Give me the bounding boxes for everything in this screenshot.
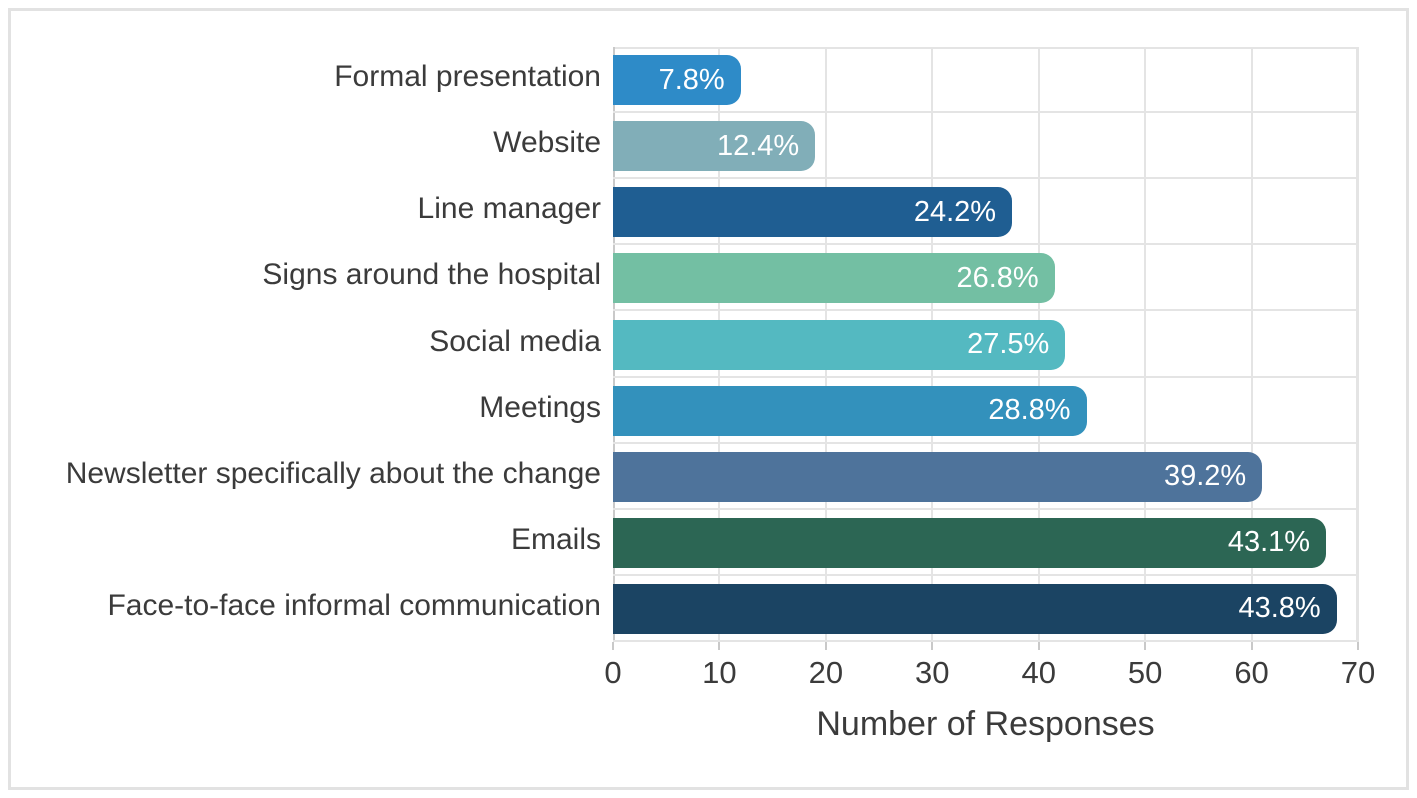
bar-value-label: 26.8% — [956, 262, 1054, 295]
bar[interactable]: 27.5% — [613, 320, 1065, 370]
bar-value-label: 43.1% — [1228, 526, 1326, 559]
row-separator — [613, 574, 1358, 576]
x-tick-label: 30 — [915, 655, 949, 691]
bar-value-label: 27.5% — [967, 328, 1065, 361]
x-tick-mark — [1357, 642, 1359, 650]
bar-value-label: 12.4% — [717, 130, 815, 163]
bar-value-label: 39.2% — [1164, 460, 1262, 493]
bar[interactable]: 43.8% — [613, 584, 1337, 634]
bar-value-label: 28.8% — [988, 394, 1086, 427]
x-axis-title: Number of Responses — [613, 705, 1358, 744]
bar-chart: Formal presentationWebsiteLine managerSi… — [11, 11, 1412, 793]
plot-area: 7.8%12.4%24.2%26.8%27.5%28.8%39.2%43.1%4… — [613, 47, 1358, 642]
figure-container: Formal presentationWebsiteLine managerSi… — [0, 0, 1417, 798]
category-label: Website — [493, 126, 601, 160]
bar-value-label: 24.2% — [914, 196, 1012, 229]
x-tick-mark — [825, 642, 827, 650]
x-tick-label: 10 — [702, 655, 736, 691]
row-separator — [613, 111, 1358, 113]
plot-border-right — [1356, 47, 1358, 642]
bar[interactable]: 26.8% — [613, 253, 1055, 303]
x-tick-mark — [718, 642, 720, 650]
x-tick-mark — [1251, 642, 1253, 650]
category-label: Line manager — [418, 192, 601, 226]
x-tick-mark — [931, 642, 933, 650]
bar[interactable]: 24.2% — [613, 187, 1012, 237]
x-tick-mark — [1144, 642, 1146, 650]
row-separator — [613, 376, 1358, 378]
category-label: Social media — [429, 325, 601, 359]
category-label: Newsletter specifically about the change — [66, 457, 601, 491]
category-label: Emails — [511, 523, 601, 557]
figure-frame: Formal presentationWebsiteLine managerSi… — [8, 8, 1409, 790]
row-separator — [613, 442, 1358, 444]
bar-value-label: 7.8% — [659, 64, 741, 97]
bar[interactable]: 7.8% — [613, 55, 741, 105]
x-tick-label: 20 — [809, 655, 843, 691]
category-label: Meetings — [479, 391, 601, 425]
bar[interactable]: 28.8% — [613, 386, 1087, 436]
plot-border-top — [613, 47, 1358, 49]
row-separator — [613, 309, 1358, 311]
bar[interactable]: 43.1% — [613, 518, 1326, 568]
x-tick-mark — [1038, 642, 1040, 650]
row-separator — [613, 508, 1358, 510]
x-tick-label: 50 — [1128, 655, 1162, 691]
x-tick-label: 0 — [604, 655, 621, 691]
row-separator — [613, 640, 1358, 642]
x-tick-label: 60 — [1234, 655, 1268, 691]
x-tick-label: 70 — [1341, 655, 1375, 691]
row-separator — [613, 177, 1358, 179]
bar-value-label: 43.8% — [1238, 592, 1336, 625]
bar[interactable]: 12.4% — [613, 121, 815, 171]
bar[interactable]: 39.2% — [613, 452, 1262, 502]
x-tick-mark — [612, 642, 614, 650]
category-label: Formal presentation — [334, 60, 601, 94]
category-label: Face-to-face informal communication — [107, 589, 601, 623]
row-separator — [613, 243, 1358, 245]
x-tick-label: 40 — [1021, 655, 1055, 691]
category-label: Signs around the hospital — [262, 258, 601, 292]
